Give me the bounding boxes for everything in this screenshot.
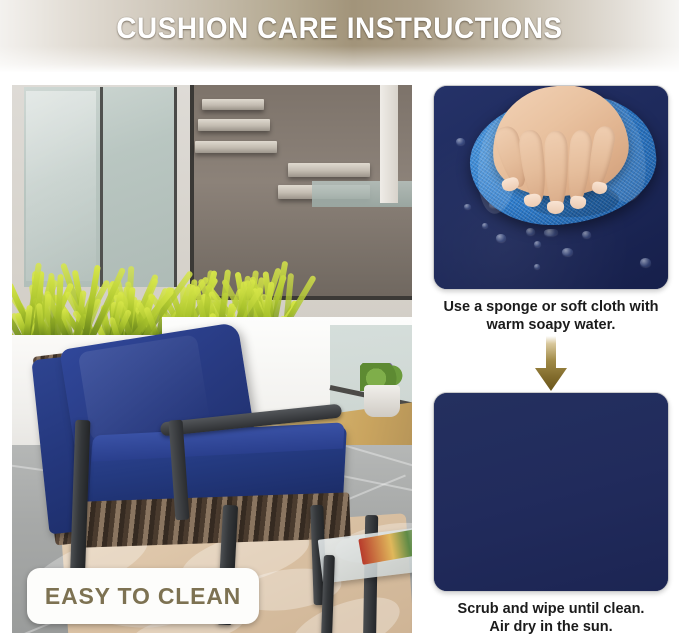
step-2-caption-line1: Scrub and wipe until clean. [433, 601, 669, 619]
floating-stair [288, 163, 370, 177]
water-droplet [526, 228, 535, 235]
glass-reflection [26, 91, 96, 281]
down-arrow-icon [534, 336, 568, 392]
water-droplet [534, 241, 541, 247]
step-1-caption-line2: warm soapy water. [433, 317, 669, 335]
water-droplet [534, 264, 540, 269]
header-banner: CUSHION CARE INSTRUCTIONS [0, 0, 679, 72]
instruction-steps: Use a sponge or soft cloth with warm soa… [433, 85, 669, 637]
step-2-image [433, 392, 669, 592]
water-droplet [482, 223, 488, 228]
flow-arrow-container [433, 334, 669, 392]
fingernail [547, 201, 564, 214]
clean-navy-fabric [434, 393, 668, 591]
wall-pillar [380, 85, 398, 203]
step-1-caption-line1: Use a sponge or soft cloth with [433, 299, 669, 317]
easy-to-clean-badge: EASY TO CLEAN [27, 568, 259, 624]
water-droplet [562, 248, 573, 256]
water-droplet [464, 204, 471, 209]
easy-to-clean-label: EASY TO CLEAN [45, 583, 241, 610]
window-mullion [100, 87, 107, 287]
product-photo [12, 85, 412, 633]
floating-stair [198, 119, 270, 131]
water-droplet [640, 258, 651, 267]
water-droplet [496, 234, 506, 242]
step-2-caption-line2: Air dry in the sun. [433, 619, 669, 637]
water-droplet [582, 231, 591, 238]
step-1-image [433, 85, 669, 290]
step-2-caption: Scrub and wipe until clean. Air dry in t… [433, 601, 669, 636]
water-droplet [456, 138, 465, 145]
flower-pot [364, 385, 400, 417]
floating-stair [202, 99, 264, 110]
step-1-caption: Use a sponge or soft cloth with warm soa… [433, 299, 669, 334]
floating-stair [195, 141, 277, 153]
page-title: CUSHION CARE INSTRUCTIONS [24, 12, 655, 46]
